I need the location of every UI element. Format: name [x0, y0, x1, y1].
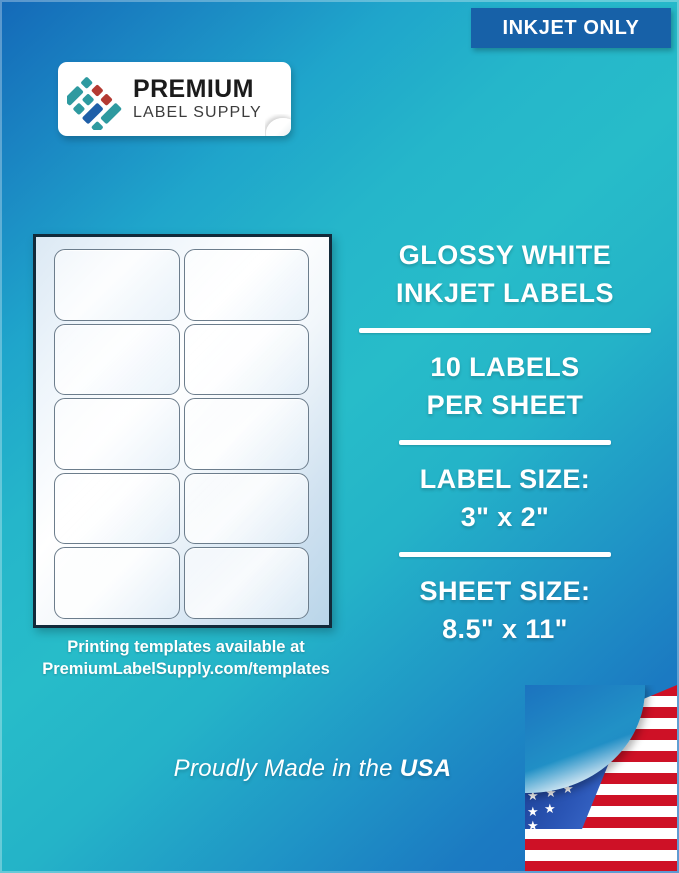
info-divider — [399, 440, 611, 445]
brand-logo-card: PREMIUM LABEL SUPPLY — [58, 62, 291, 136]
templates-note-line-1: Printing templates available at — [0, 636, 372, 658]
label-sheet-illustration — [33, 234, 332, 628]
brand-name-primary: PREMIUM — [133, 77, 262, 102]
labels-per-sheet-line-1: 10 LABELS — [355, 348, 655, 386]
label-cell — [54, 547, 180, 619]
label-cell — [54, 473, 180, 545]
made-in-usa-prefix: Proudly Made in the — [174, 755, 400, 782]
premium-label-supply-diamond-icon — [67, 68, 129, 130]
printing-templates-note: Printing templates available at PremiumL… — [0, 636, 372, 680]
label-cell — [54, 249, 180, 321]
inkjet-only-badge-label: INKJET ONLY — [502, 17, 639, 40]
brand-name-secondary: LABEL SUPPLY — [133, 105, 262, 121]
flag-star: ★ — [527, 805, 539, 818]
sheet-size-title: SHEET SIZE: — [355, 572, 655, 610]
label-cell — [184, 249, 310, 321]
made-in-usa-emphasis: USA — [400, 755, 452, 782]
label-cell — [54, 398, 180, 470]
product-headline-line-1: GLOSSY WHITE — [355, 236, 655, 274]
labels-per-sheet-line-2: PER SHEET — [355, 386, 655, 424]
inkjet-only-badge: INKJET ONLY — [471, 8, 671, 48]
label-grid — [54, 249, 309, 619]
label-cell — [184, 547, 310, 619]
label-size-value: 3" x 2" — [355, 498, 655, 536]
sheet-size-value: 8.5" x 11" — [355, 610, 655, 648]
label-size-title: LABEL SIZE: — [355, 460, 655, 498]
info-divider — [359, 328, 651, 333]
info-divider — [399, 552, 611, 557]
product-headline-line-2: INKJET LABELS — [355, 274, 655, 312]
label-cell — [184, 473, 310, 545]
logo-card-page-curl — [265, 114, 291, 136]
product-package-image: INKJET ONLY PREMIUM LABEL SUPPLY — [0, 0, 679, 873]
label-cell — [184, 398, 310, 470]
usa-flag-corner-curl: ★ ★ ★ ★ ★ ★ ★ ★ ★ ★ ★ ★ ★ ★ — [525, 685, 677, 871]
label-cell — [54, 324, 180, 396]
flag-star: ★ — [544, 802, 556, 815]
brand-logo-text: PREMIUM LABEL SUPPLY — [133, 77, 262, 121]
label-cell — [184, 324, 310, 396]
templates-note-url: PremiumLabelSupply.com/templates — [0, 658, 372, 680]
product-info-column: GLOSSY WHITE INKJET LABELS 10 LABELS PER… — [355, 236, 655, 648]
